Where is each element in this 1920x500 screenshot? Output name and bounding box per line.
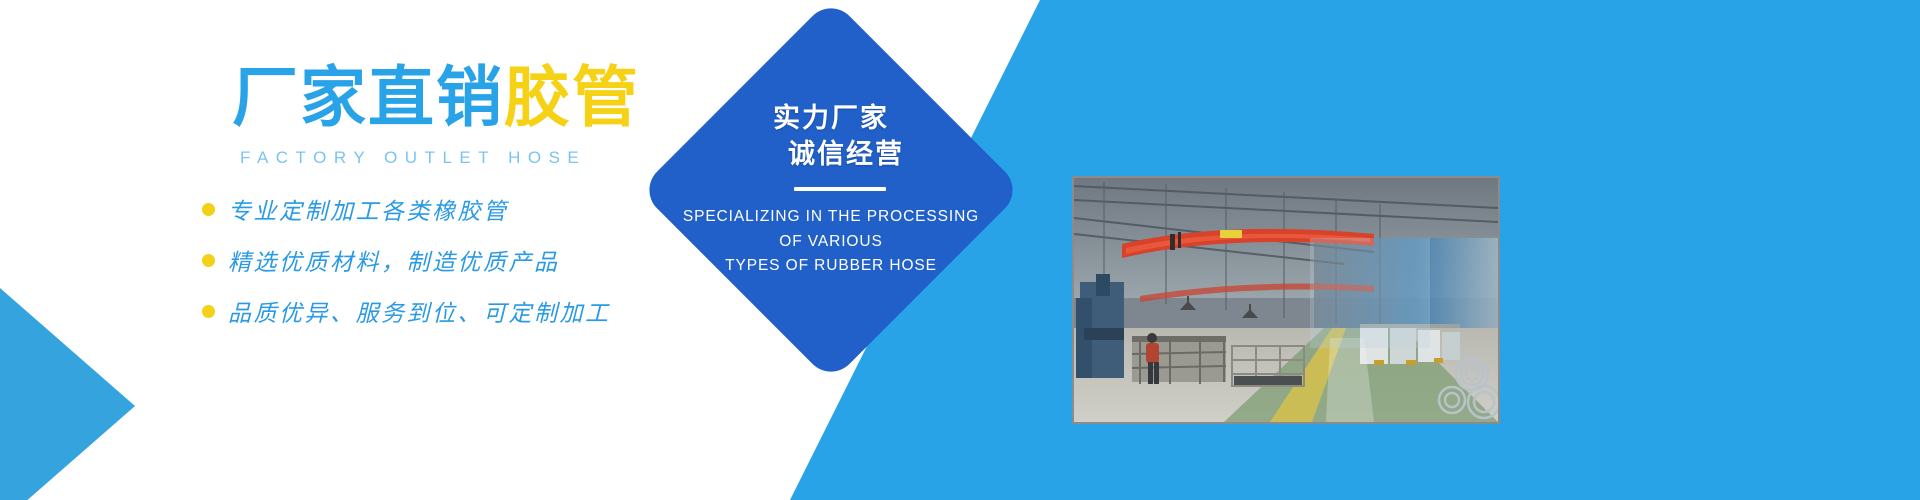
- promo-banner: 厂家直销胶管 FACTORY OUTLET HOSE 专业定制加工各类橡胶管 精…: [0, 0, 1920, 500]
- list-item: 品质优异、服务到位、可定制加工: [202, 294, 696, 328]
- title-accent: 胶管: [504, 60, 640, 134]
- badge-divider: [794, 187, 886, 191]
- factory-photo-illustration: [1074, 178, 1498, 422]
- list-item-label: 专业定制加工各类橡胶管: [228, 192, 509, 226]
- diamond-badge-content: 实力厂家 诚信经营 SPECIALIZING IN THE PROCESSING…: [633, 0, 1029, 388]
- bullet-dot-icon: [202, 305, 215, 318]
- badge-en-line-2: OF VARIOUS: [683, 230, 979, 254]
- list-item: 精选优质材料，制造优质产品: [202, 243, 696, 277]
- badge-english-text: SPECIALIZING IN THE PROCESSING OF VARIOU…: [683, 205, 979, 278]
- badge-en-line-1: SPECIALIZING IN THE PROCESSING: [683, 205, 979, 229]
- badge-chinese-heading: 实力厂家 诚信经营: [758, 101, 904, 172]
- bullet-dot-icon: [202, 254, 215, 267]
- page-title: 厂家直销胶管: [232, 64, 696, 130]
- subtitle-english: FACTORY OUTLET HOSE: [240, 148, 696, 168]
- diamond-badge: 实力厂家 诚信经营 SPECIALIZING IN THE PROCESSING…: [633, 0, 1029, 388]
- badge-en-line-3: TYPES OF RUBBER HOSE: [683, 254, 979, 278]
- headline-block: 厂家直销胶管 FACTORY OUTLET HOSE 专业定制加工各类橡胶管 精…: [196, 64, 696, 345]
- badge-cn-line-1: 实力厂家: [758, 101, 904, 137]
- feature-list: 专业定制加工各类橡胶管 精选优质材料，制造优质产品 品质优异、服务到位、可定制加…: [202, 192, 696, 328]
- left-chevron-decoration: [0, 288, 140, 500]
- bullet-dot-icon: [202, 203, 215, 216]
- title-primary: 厂家直销: [232, 60, 504, 134]
- factory-photo: [1072, 176, 1500, 424]
- list-item-label: 品质优异、服务到位、可定制加工: [228, 294, 611, 328]
- list-item: 专业定制加工各类橡胶管: [202, 192, 696, 226]
- badge-cn-line-2: 诚信经营: [758, 137, 904, 173]
- list-item-label: 精选优质材料，制造优质产品: [228, 243, 560, 277]
